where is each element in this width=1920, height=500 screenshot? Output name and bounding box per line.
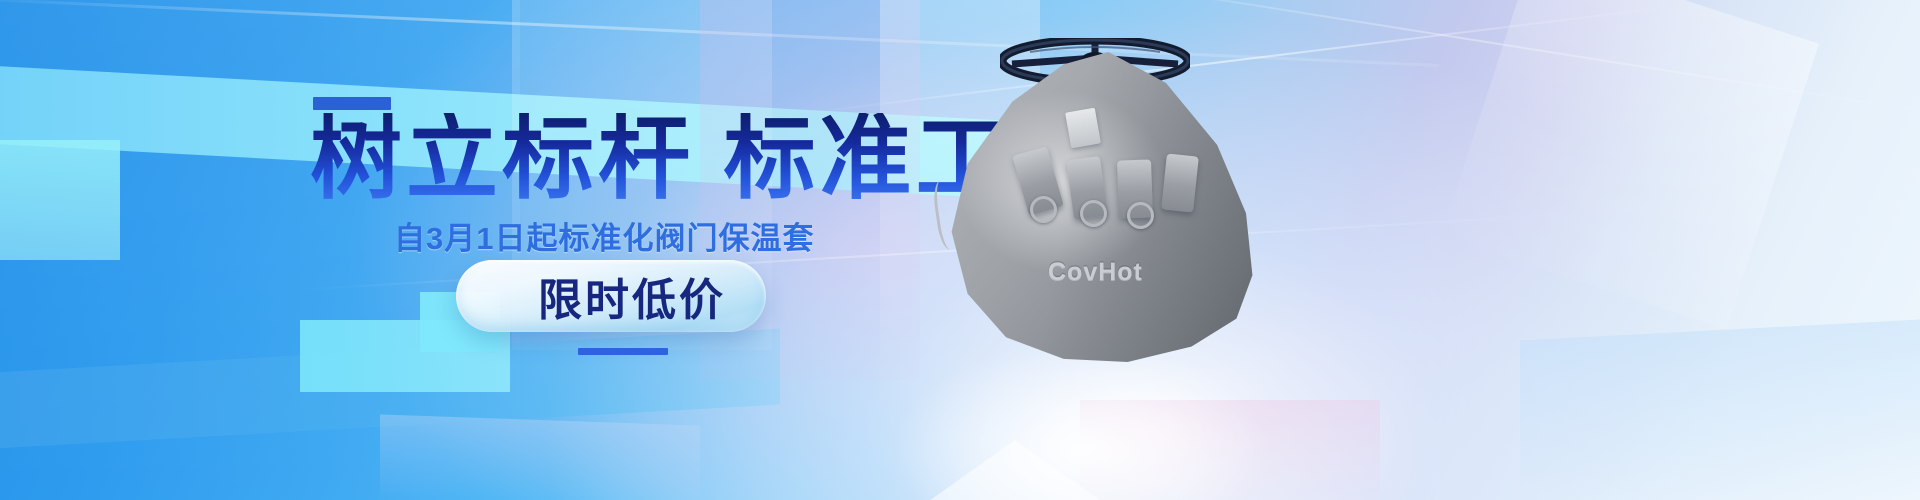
jacket-d-ring <box>1127 202 1154 229</box>
jacket-d-ring <box>1030 196 1057 223</box>
promo-banner: 树立标杆 标准工艺 自3月1日起标准化阀门保温套 限时低价 CovHot <box>0 0 1920 500</box>
product-image: CovHot <box>920 0 1340 420</box>
subheadline: 自3月1日起标准化阀门保温套 <box>394 213 814 258</box>
copy-block: 树立标杆 标准工艺 自3月1日起标准化阀门保温套 限时低价 <box>0 0 1000 500</box>
cta-underline-bar <box>578 348 668 355</box>
jacket-cord <box>931 179 960 251</box>
background-panel-right-top <box>1441 0 1819 329</box>
jacket-d-ring <box>1080 200 1107 227</box>
cta-button[interactable]: 限时低价 <box>456 260 766 332</box>
jacket-label-tag <box>1065 108 1101 149</box>
cta-button-label: 限时低价 <box>496 264 726 328</box>
product-brand-text: CovHot <box>1048 258 1143 287</box>
background-panel-right-bottom <box>1520 320 1920 500</box>
jacket-strap <box>1161 153 1199 212</box>
